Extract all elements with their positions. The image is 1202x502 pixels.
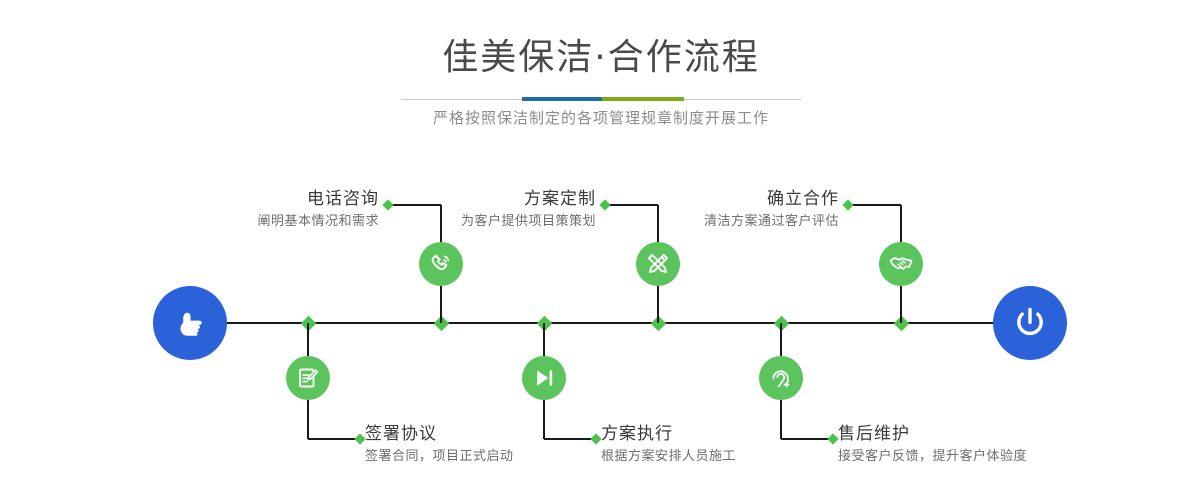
step-stem-3 [657,286,659,323]
header: 佳美保洁·合作流程 严格按照保洁制定的各项管理规章制度开展工作 [0,0,1202,150]
handshake-icon [888,251,914,277]
step-desc-6: 接受客户反馈，提升客户体验度 [838,447,1202,467]
headset-support-icon [768,365,794,391]
step-desc-5: 清洁方案通过客户评估 [481,212,839,232]
step-stem-5 [900,286,902,323]
step-icon-6[interactable] [759,356,803,400]
step-lead-line-6 [781,438,833,440]
step-icon-5[interactable] [879,242,923,286]
end-endpoint [993,286,1067,360]
play-to-next-icon [531,365,557,391]
pointing-hand-icon [170,303,210,343]
step-label-6: 售后维护 接受客户反馈，提升客户体验度 [838,423,1202,467]
cooperation-process-infographic: 佳美保洁·合作流程 严格按照保洁制定的各项管理规章制度开展工作 [0,0,1202,502]
timeline-axis [225,322,997,324]
step-stem-1 [440,286,442,323]
step-lead-dot-2 [354,433,365,444]
step-lead-line-5 [849,204,901,206]
title-divider [401,97,801,101]
step-icon-1[interactable] [419,242,463,286]
divider-blue-segment [522,97,602,101]
step-lead-stem-2 [307,400,309,439]
step-icon-4[interactable] [522,356,566,400]
step-title-5: 确立合作 [481,188,839,210]
step-stem-4 [543,323,545,356]
phone-call-icon [428,251,454,277]
step-label-5: 确立合作 清洁方案通过客户评估 [481,188,839,232]
page-subtitle: 严格按照保洁制定的各项管理规章制度开展工作 [0,106,1202,130]
document-sign-icon [295,365,321,391]
start-endpoint [153,286,227,360]
step-title-6: 售后维护 [838,423,1202,445]
step-lead-line-4 [544,438,596,440]
step-icon-2[interactable] [286,356,330,400]
step-lead-stem-6 [780,400,782,439]
step-lead-stem-5 [900,205,902,242]
step-stem-2 [307,323,309,356]
step-lead-stem-4 [543,400,545,439]
divider-green-segment [602,97,684,101]
step-stem-6 [780,323,782,356]
step-lead-dot-5 [842,199,853,210]
step-lead-line-2 [308,438,360,440]
page-title: 佳美保洁·合作流程 [0,36,1202,80]
power-button-icon [1009,302,1051,344]
step-icon-3[interactable] [636,242,680,286]
pencil-ruler-icon [645,251,671,277]
